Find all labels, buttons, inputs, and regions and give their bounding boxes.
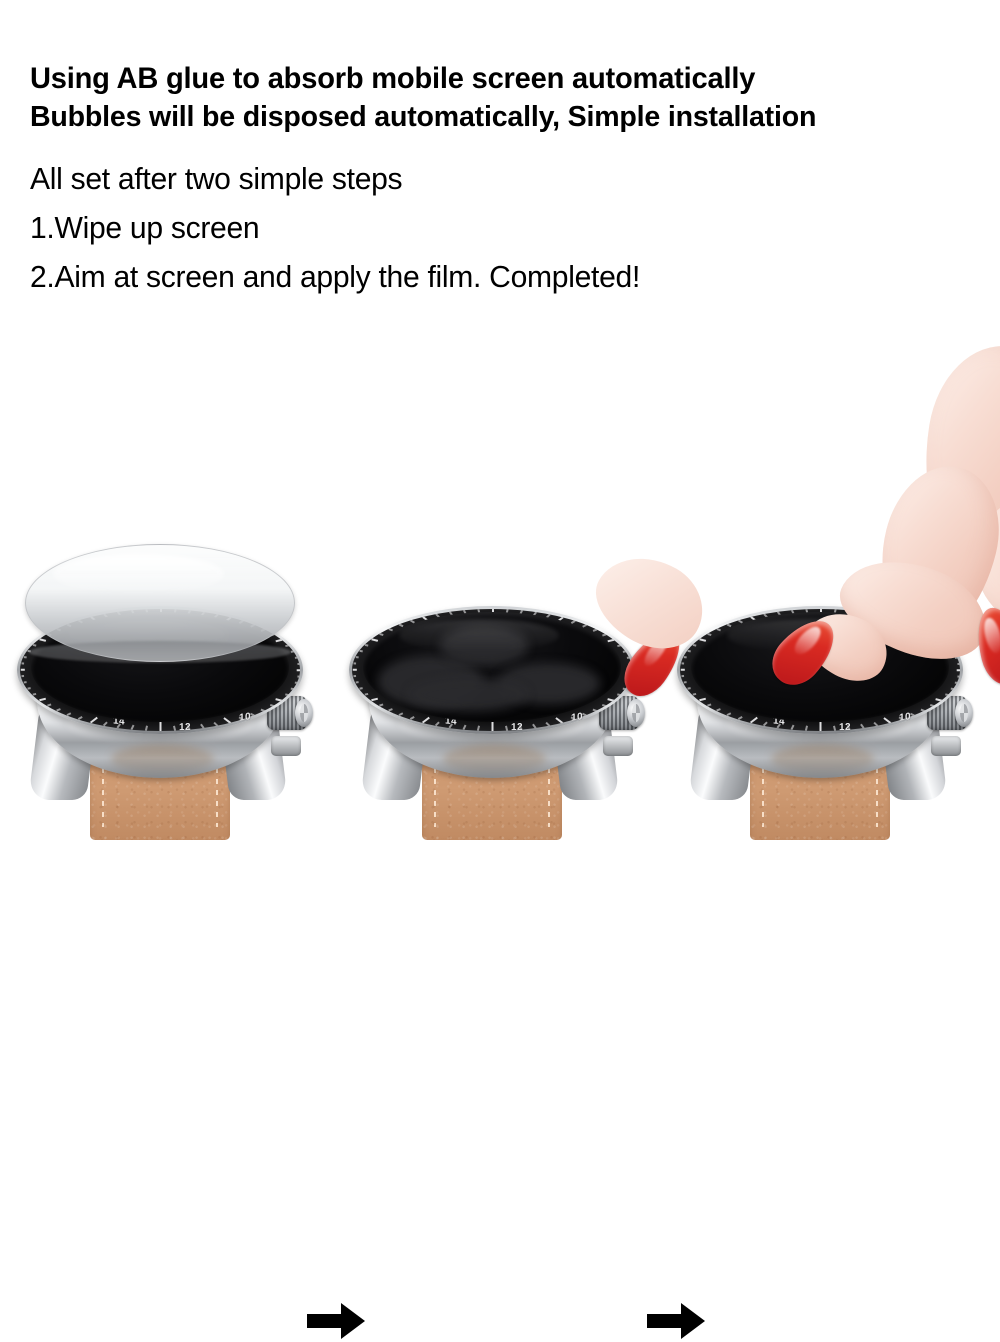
bezel-tick — [602, 704, 606, 707]
bezel-tick — [627, 657, 630, 659]
bezel-tick — [716, 709, 720, 712]
bezel-tick — [935, 698, 942, 701]
bezel-tick — [353, 676, 356, 678]
bezel-tick — [39, 698, 46, 701]
bezel-tick — [607, 639, 614, 642]
step-3-watch-film-applied: 18 16 14 12 10 — [655, 540, 985, 860]
bezel-tick — [617, 693, 621, 695]
bezel-tick — [67, 713, 72, 716]
bezel-tick — [738, 716, 743, 720]
arrow-step-2-to-3 — [645, 1300, 707, 1342]
bezel-tick — [945, 644, 949, 646]
bezel-tick — [693, 644, 697, 646]
bezel-tick — [356, 657, 359, 659]
bezel-tick — [617, 644, 621, 646]
bezel-numeral-12: 12 — [511, 722, 523, 733]
watch-screen — [691, 612, 949, 722]
bezel-tick — [285, 693, 289, 695]
bezel-tick — [623, 650, 626, 652]
bezel-tick — [684, 657, 687, 659]
screen-gloss — [727, 619, 887, 652]
bezel-tick — [687, 650, 690, 652]
headline-line-1: Using AB glue to absorb mobile screen au… — [30, 60, 976, 98]
bezel-tick — [275, 639, 282, 642]
bezel-tick — [707, 704, 711, 707]
bezel-tick — [935, 639, 942, 642]
bezel-tick — [24, 682, 27, 684]
bezel-tick — [681, 663, 684, 665]
bezel-tick — [505, 726, 508, 731]
bezel-tick — [379, 704, 383, 707]
bezel-tick — [921, 709, 925, 712]
bezel-tick — [477, 726, 480, 731]
bezel-tick — [224, 717, 232, 723]
bezel-tick — [951, 688, 954, 690]
bezel-tick — [833, 726, 836, 731]
headline-line-2: Bubbles will be disposed automatically, … — [30, 98, 976, 136]
bezel-tick — [33, 644, 37, 646]
bezel-tick — [546, 722, 550, 726]
bezel-tick — [365, 644, 369, 646]
pusher — [603, 736, 633, 756]
bezel-tick — [945, 693, 949, 695]
crown-cap — [955, 699, 973, 727]
bezel-numeral-10: 10 — [239, 711, 251, 724]
bezel-tick — [371, 698, 378, 701]
bezel-tick — [699, 698, 706, 701]
case-underside-shadow — [443, 745, 546, 773]
bezel-tick — [285, 644, 289, 646]
bezel-tick — [763, 722, 767, 726]
bezel-tick — [957, 663, 960, 665]
step-1-watch-with-film: 18 16 14 12 10 — [0, 540, 325, 860]
watch-screen — [363, 612, 621, 722]
bezel-tick — [955, 682, 958, 684]
bezel-tick — [884, 717, 892, 723]
bezel-tick — [681, 676, 684, 678]
bezel-tick — [930, 633, 934, 636]
bezel-tick — [388, 709, 392, 712]
bezel-tick — [791, 725, 795, 730]
bezel-tick — [422, 717, 430, 723]
bezel-tick — [359, 650, 362, 652]
bezel-tick — [681, 669, 685, 671]
bezel-tick — [957, 669, 960, 671]
bezel-tick — [492, 722, 494, 731]
bezel-tick — [750, 717, 758, 723]
smartwatch: 18 16 14 12 10 — [0, 540, 325, 860]
bezel-tick — [365, 693, 369, 695]
bezel-tick — [291, 650, 294, 652]
case-underside-shadow — [111, 745, 214, 773]
bezel-tick — [463, 725, 467, 730]
case-underside-shadow — [771, 745, 874, 773]
intro-line: All set after two simple steps — [30, 154, 961, 203]
product-infographic: Using AB glue to absorb mobile screen au… — [0, 0, 1000, 1000]
bezel-numeral-12: 12 — [839, 722, 851, 733]
bezel-tick — [957, 676, 960, 678]
screen-protector-film — [25, 544, 295, 662]
bezel-tick — [399, 713, 404, 716]
bezel-tick — [297, 663, 300, 665]
bezel-tick — [24, 657, 27, 659]
pusher — [271, 736, 301, 756]
step-2-line: 2.Aim at screen and apply the film. Comp… — [30, 252, 961, 301]
bezel-tick — [173, 726, 176, 731]
smartwatch: 18 16 14 12 10 — [655, 540, 985, 860]
bezel-tick — [693, 693, 697, 695]
bezel-tick — [951, 650, 954, 652]
bezel-numeral-10: 10 — [571, 711, 583, 724]
bezel-tick — [27, 688, 30, 690]
bezel-tick — [353, 663, 356, 665]
bezel-tick — [582, 624, 587, 627]
bezel-tick — [33, 693, 37, 695]
bezel-tick — [687, 688, 690, 690]
bezel-tick — [275, 698, 282, 701]
bezel-tick — [291, 688, 294, 690]
bezel-tick — [47, 704, 51, 707]
film-highlight — [53, 554, 225, 593]
bezel-tick — [556, 717, 564, 723]
bezel-tick — [78, 716, 83, 720]
bezel-tick — [874, 722, 878, 726]
bezel-tick — [727, 713, 732, 716]
bezel-tick — [593, 628, 597, 631]
crown-cap — [627, 699, 645, 727]
bezel-tick — [103, 722, 107, 726]
screen-gloss — [399, 619, 559, 652]
bezel-tick — [295, 657, 298, 659]
bezel-tick — [21, 669, 25, 671]
bezel-tick — [270, 704, 274, 707]
bezel-tick — [21, 676, 24, 678]
installation-steps-diagram: 18 16 14 12 10 — [0, 540, 1000, 860]
bezel-tick — [593, 709, 597, 712]
bezel-tick — [930, 704, 934, 707]
text-block: Using AB glue to absorb mobile screen au… — [30, 60, 990, 301]
bezel-tick — [607, 698, 614, 701]
bezel-tick — [297, 669, 300, 671]
bezel-tick — [56, 709, 60, 712]
bezel-tick — [145, 726, 148, 731]
bezel-tick — [861, 724, 865, 729]
bezel-tick — [707, 633, 711, 636]
bezel-tick — [21, 663, 24, 665]
bezel-tick — [955, 657, 958, 659]
step-1-line: 1.Wipe up screen — [30, 203, 961, 252]
film-edge — [29, 641, 292, 663]
bezel-tick — [805, 726, 808, 731]
bezel-tick — [261, 709, 265, 712]
bezel-tick — [910, 624, 915, 627]
bezel-tick — [353, 669, 357, 671]
bezel-tick — [684, 682, 687, 684]
bezel-tick — [410, 716, 415, 720]
bezel-tick — [214, 722, 218, 726]
bezel-tick — [201, 724, 205, 729]
bezel-tick — [921, 628, 925, 631]
bezel-tick — [820, 722, 822, 731]
bezel-tick — [297, 676, 300, 678]
bezel-tick — [435, 722, 439, 726]
bezel-tick — [356, 682, 359, 684]
bezel-numeral-10: 10 — [899, 711, 911, 724]
bezel-tick — [359, 688, 362, 690]
pusher — [931, 736, 961, 756]
bezel-numeral-12: 12 — [179, 722, 191, 733]
bezel-tick — [90, 717, 98, 723]
bezel-tick — [160, 722, 162, 731]
bezel-tick — [533, 724, 537, 729]
arrow-step-1-to-2 — [305, 1300, 367, 1342]
bezel-tick — [295, 682, 298, 684]
bezel-tick — [131, 725, 135, 730]
crown-cap — [295, 699, 313, 727]
bubble-blob — [409, 678, 528, 711]
text-spacer — [30, 136, 990, 154]
bezel-tick — [379, 633, 383, 636]
bezel-tick — [602, 633, 606, 636]
